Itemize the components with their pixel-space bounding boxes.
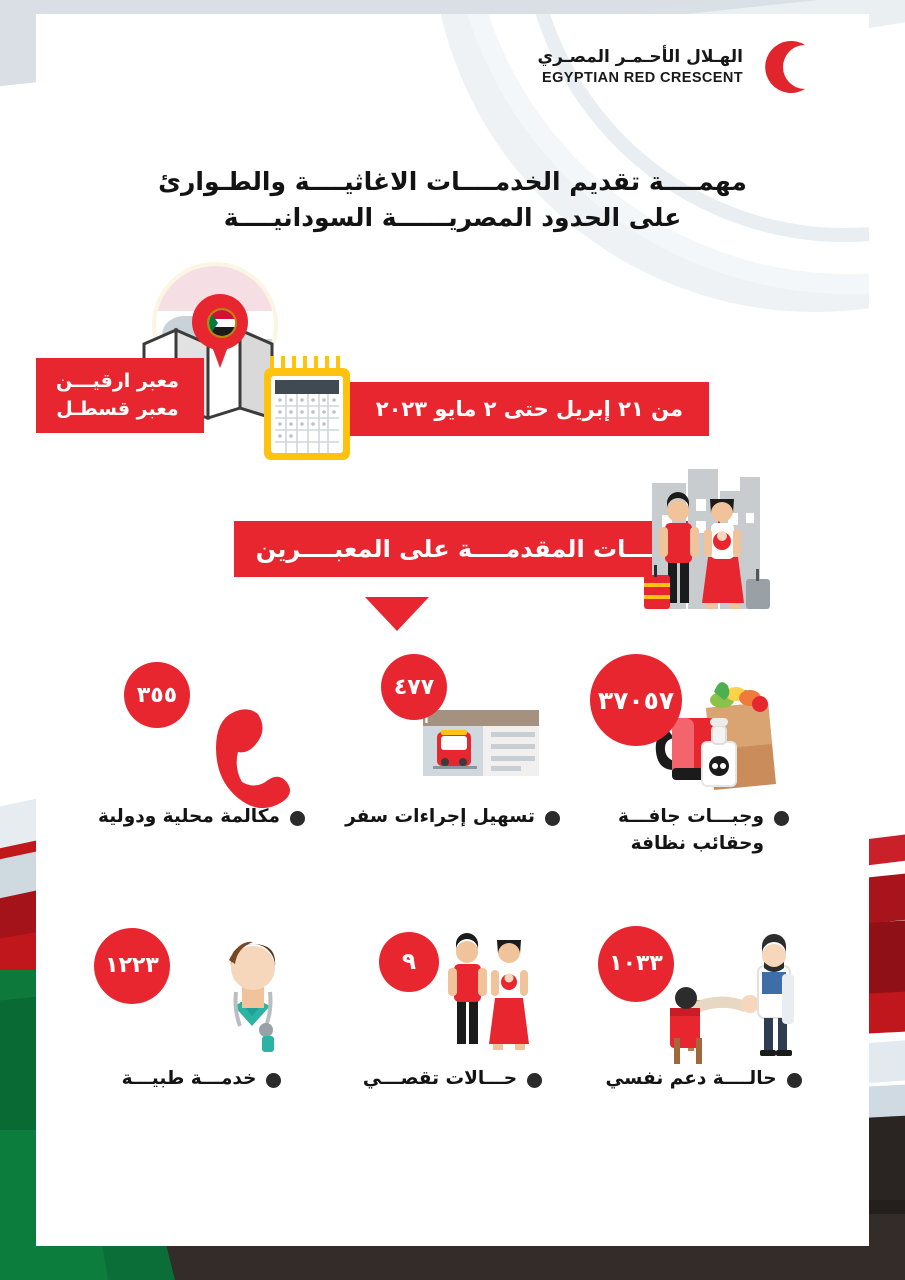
brand-logo: الهـلال الأحـمـر المصـري EGYPTIAN RED CR… [537, 36, 819, 98]
stat-art-dry-meals: ٣٧٠٥٧ [578, 654, 829, 804]
stat-label-dry-meals: وجبـــات جافـــة وحقائب نظافة [578, 804, 829, 858]
stat-label-line-1: حـــالات تقصـــي [363, 1066, 517, 1093]
triangle-down-icon [365, 597, 429, 631]
stats-grid: ٣٧٠٥٧ وجبـــات جافـــة وحقائب نظافة [76, 654, 829, 1134]
stat-card-travel: CKET ٤٧٧ [327, 654, 578, 831]
stat-bubble-tracing: ٩ [379, 932, 439, 992]
stat-label-line-2: وحقائب نظافة [631, 833, 764, 854]
bullet-dot-icon [527, 1073, 542, 1088]
page-title: مهمــــة تقديم الخدمــــات الاغاثيــــة … [106, 164, 799, 237]
stat-card-medical: ١٢٢٣ خدمـــة طبيـــة [76, 916, 327, 1093]
stat-value-tracing: ٩ [402, 949, 416, 975]
page-title-line-1: مهمــــة تقديم الخدمــــات الاغاثيــــة … [106, 164, 799, 200]
stat-bubble-travel: ٤٧٧ [381, 654, 447, 720]
stat-art-calls: ٣٥٥ [76, 654, 327, 804]
stat-art-tracing: ٩ [327, 916, 578, 1066]
date-block: من ٢١ إبريل حتى ٢ مايو ٢٠٢٣ [258, 354, 709, 464]
brand-name-en: EGYPTIAN RED CRESCENT [537, 70, 743, 86]
brand-text: الهـلال الأحـمـر المصـري EGYPTIAN RED CR… [537, 48, 743, 86]
stat-bubble-calls: ٣٥٥ [124, 662, 190, 728]
stat-value-travel: ٤٧٧ [394, 675, 434, 700]
stat-bubble-dry-meals: ٣٧٠٥٧ [590, 654, 682, 746]
stat-value-dry-meals: ٣٧٠٥٧ [598, 686, 674, 715]
stat-bubble-medical: ١٢٢٣ [94, 928, 170, 1004]
content-card: الهـلال الأحـمـر المصـري EGYPTIAN RED CR… [36, 14, 869, 1246]
stat-card-dry-meals: ٣٧٠٥٧ وجبـــات جافـــة وحقائب نظافة [578, 654, 829, 858]
stat-label-line-1: حالــــة دعم نفسي [605, 1066, 776, 1093]
stat-card-tracing: ٩ حـــالات تقصـــي [327, 916, 578, 1093]
stat-card-psychosocial: ١٠٣٣ حالــــة دعم نفسي [578, 916, 829, 1093]
stat-art-travel: CKET ٤٧٧ [327, 654, 578, 804]
stat-value-medical: ١٢٢٣ [105, 953, 159, 978]
location-badge: معبر ارقيـــن معبر قسطـل [36, 358, 204, 433]
refugee-family-icon [634, 469, 774, 624]
location-badge-line-2: معبر قسطـل [45, 396, 190, 424]
bullet-dot-icon [266, 1073, 281, 1088]
stat-label-medical: خدمـــة طبيـــة [76, 1066, 327, 1093]
stat-value-calls: ٣٥٥ [137, 683, 177, 708]
stat-card-calls: ٣٥٥ مكالمة محلية ودولية [76, 654, 327, 831]
stat-label-line-1: خدمـــة طبيـــة [122, 1066, 257, 1093]
stats-row-2: ١٠٣٣ حالــــة دعم نفسي [76, 916, 829, 1093]
date-badge: من ٢١ إبريل حتى ٢ مايو ٢٠٢٣ [350, 382, 709, 436]
calendar-icon [258, 354, 356, 464]
red-crescent-icon [757, 36, 819, 98]
stat-art-psychosocial: ١٠٣٣ [578, 916, 829, 1066]
sudan-flag-icon [207, 308, 237, 338]
stat-bubble-psychosocial: ١٠٣٣ [598, 926, 674, 1002]
bullet-dot-icon [774, 811, 789, 826]
stat-label-psychosocial: حالــــة دعم نفسي [578, 1066, 829, 1093]
stat-art-medical: ١٢٢٣ [76, 916, 327, 1066]
stat-value-psychosocial: ١٠٣٣ [609, 951, 663, 976]
stat-label-tracing: حـــالات تقصـــي [327, 1066, 578, 1093]
bullet-dot-icon [787, 1073, 802, 1088]
stat-label-line-1: وجبـــات جافـــة [618, 806, 764, 827]
stats-row-1: ٣٧٠٥٧ وجبـــات جافـــة وحقائب نظافة [76, 654, 829, 858]
brand-name-ar: الهـلال الأحـمـر المصـري [537, 48, 743, 67]
page-title-line-2: على الحدود المصريــــــة السودانيــــة [106, 200, 799, 236]
location-badge-line-1: معبر ارقيـــن [45, 368, 190, 396]
